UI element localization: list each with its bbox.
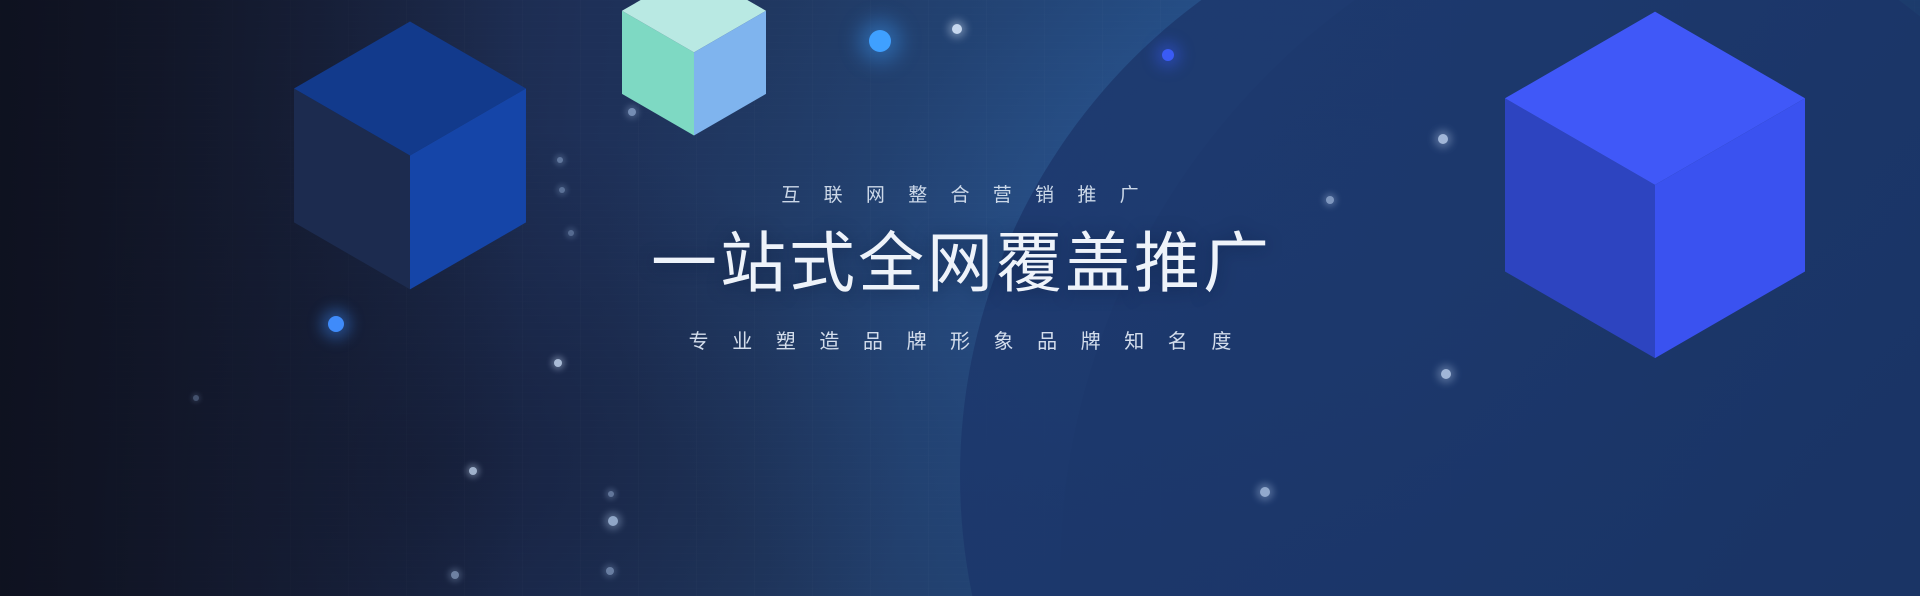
particle-dot [451, 571, 459, 579]
particle-dot [554, 359, 562, 367]
particle-dot [608, 491, 614, 497]
particle-dot [469, 467, 477, 475]
particle-dot [628, 108, 636, 116]
banner-copy: 互 联 网 整 合 营 销 推 广 一站式全网覆盖推广 专 业 塑 造 品 牌 … [0, 180, 1920, 354]
teal-cube [622, 0, 766, 115]
particle-dot [193, 395, 199, 401]
particle-dot [606, 567, 614, 575]
banner-tagline: 专 业 塑 造 品 牌 形 象 品 牌 知 名 度 [0, 325, 1920, 354]
particle-dot [1438, 134, 1448, 144]
banner-eyebrow: 互 联 网 整 合 营 销 推 广 [0, 180, 1920, 207]
particle-dot [869, 30, 891, 52]
particle-dot [608, 516, 618, 526]
particle-dot [1441, 369, 1451, 379]
particle-dot [952, 24, 962, 34]
particle-dot [1162, 49, 1174, 61]
banner-headline: 一站式全网覆盖推广 [0, 227, 1920, 301]
particle-dot [557, 157, 563, 163]
hero-banner: 互 联 网 整 合 营 销 推 广 一站式全网覆盖推广 专 业 塑 造 品 牌 … [0, 0, 1920, 596]
particle-dot [1260, 487, 1270, 497]
